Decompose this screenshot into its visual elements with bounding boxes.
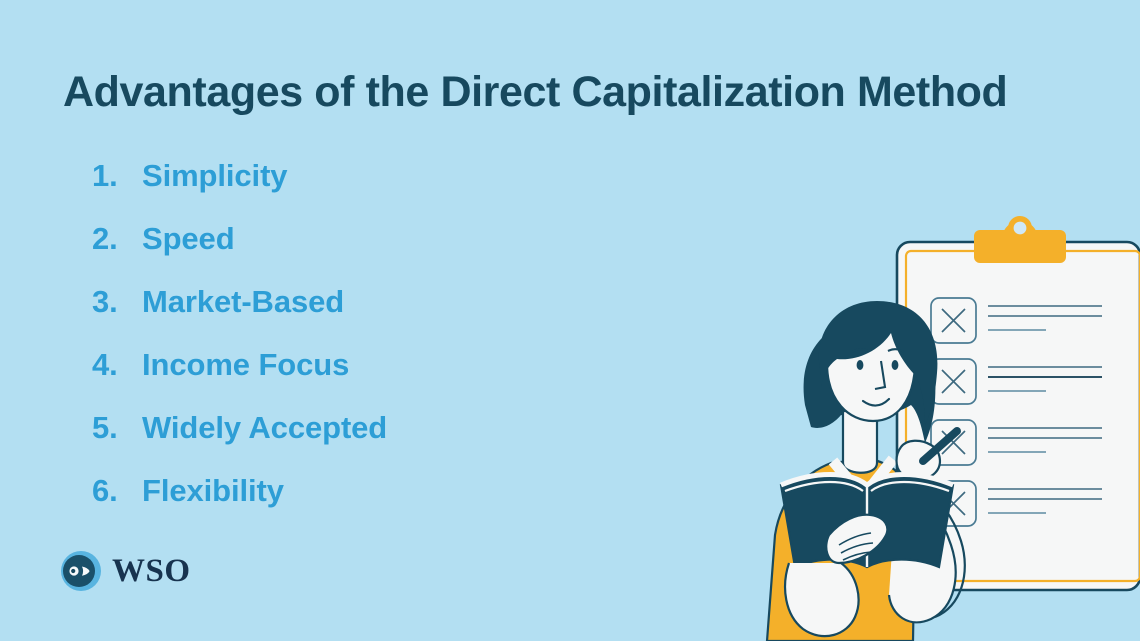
list-item-label: Simplicity (142, 158, 287, 194)
list-item: 6. Flexibility (92, 473, 652, 536)
eye-left (857, 360, 864, 370)
list-item: 4. Income Focus (92, 347, 652, 410)
person-figure (767, 301, 965, 641)
list-item-label: Widely Accepted (142, 410, 387, 446)
list-item-index: 3. (92, 284, 142, 320)
list-item-index: 4. (92, 347, 142, 383)
eye-right (892, 360, 899, 370)
illustration-woman-with-checklist (745, 215, 1140, 641)
list-item-index: 1. (92, 158, 142, 194)
list-item-label: Speed (142, 221, 235, 257)
list-item: 1. Simplicity (92, 158, 652, 221)
list-item-index: 6. (92, 473, 142, 509)
wso-wordmark: WSO (112, 555, 191, 588)
clipboard-clip-icon (974, 216, 1066, 263)
list-item-label: Market-Based (142, 284, 344, 320)
list-item-label: Income Focus (142, 347, 349, 383)
page-title: Advantages of the Direct Capitalization … (63, 68, 1007, 117)
wso-logo: WSO (60, 550, 191, 592)
advantage-list: 1. Simplicity 2. Speed 3. Market-Based 4… (92, 158, 652, 536)
list-item-label: Flexibility (142, 473, 284, 509)
list-item: 2. Speed (92, 221, 652, 284)
list-item-index: 2. (92, 221, 142, 257)
wso-globe-icon (60, 550, 102, 592)
list-item-index: 5. (92, 410, 142, 446)
list-item: 5. Widely Accepted (92, 410, 652, 473)
list-item: 3. Market-Based (92, 284, 652, 347)
slide-canvas: Advantages of the Direct Capitalization … (0, 0, 1140, 641)
